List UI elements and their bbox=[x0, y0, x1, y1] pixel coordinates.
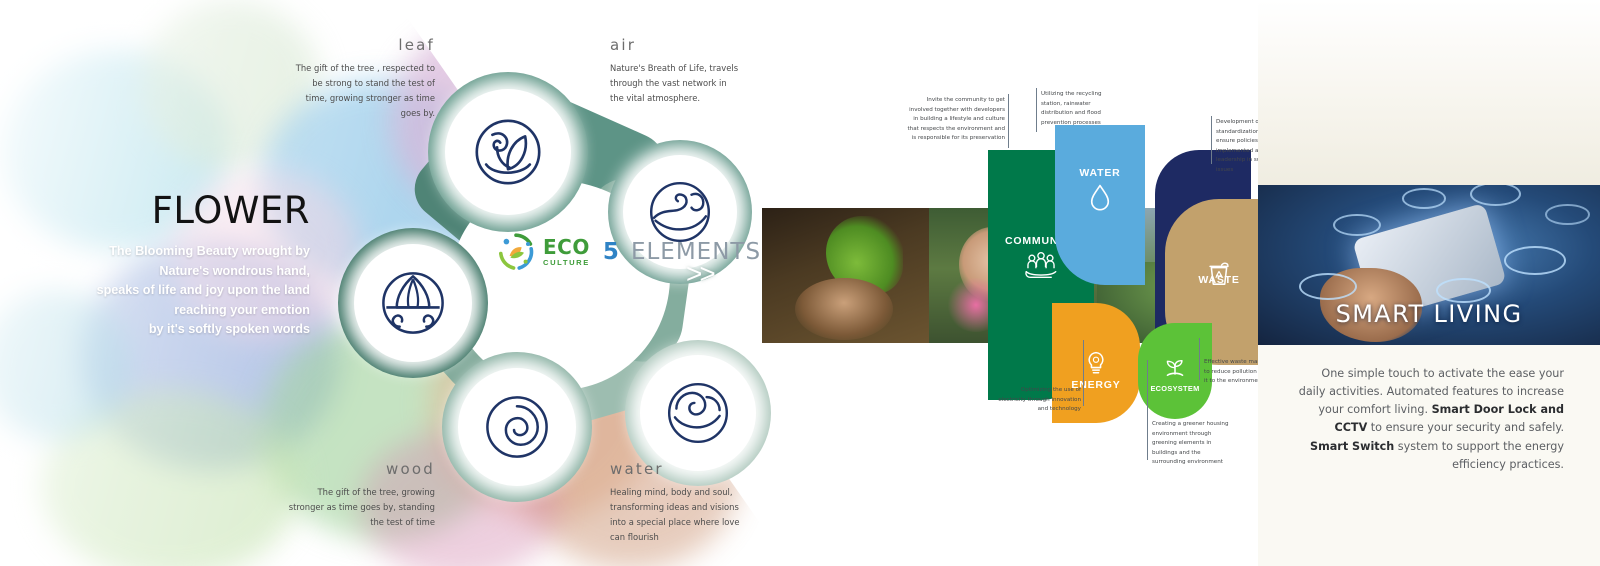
callout-ecosystem: Creating a greener housing environment t… bbox=[1152, 420, 1232, 468]
flower-tagline-line: Nature's wondrous hand, bbox=[30, 262, 310, 282]
element-label-air: air Nature's Breath of Life, travels thr… bbox=[610, 36, 740, 106]
eco-culture-logo: ECO CULTURE 5 ELEMENTS bbox=[496, 232, 761, 272]
element-desc: The gift of the tree, growing stronger a… bbox=[285, 485, 435, 530]
flower-copy-block: FLOWER The Blooming Beauty wrought by Na… bbox=[30, 192, 310, 340]
flower-tagline: The Blooming Beauty wrought by Nature's … bbox=[30, 242, 310, 340]
element-desc: The gift of the tree , respected to be s… bbox=[290, 61, 435, 121]
water-drop-icon bbox=[1089, 183, 1111, 211]
eco-word: ECO bbox=[543, 237, 590, 257]
element-label-leaf: Leaf The gift of the tree , respected to… bbox=[290, 36, 435, 121]
element-node-wood[interactable] bbox=[442, 352, 592, 502]
eco-culture-mark-icon bbox=[496, 232, 536, 272]
element-label-wood: wood The gift of the tree, growing stron… bbox=[285, 460, 435, 530]
element-name: air bbox=[610, 36, 740, 54]
flower-title: FLOWER bbox=[30, 192, 310, 229]
element-label-water: water Healing mind, body and soul, trans… bbox=[610, 460, 745, 545]
flower-tagline-line: by it's softly spoken words bbox=[30, 320, 310, 340]
flower-tagline-line: reaching your emotion bbox=[30, 301, 310, 321]
element-name: Leaf bbox=[290, 36, 435, 54]
flower-tagline-line: speaks of life and joy upon the land bbox=[30, 281, 310, 301]
leader-line-energy bbox=[1083, 340, 1084, 406]
culture-word: CULTURE bbox=[543, 259, 590, 267]
leader-line-water bbox=[1036, 88, 1037, 132]
chevrons-forward-icon: >> bbox=[686, 258, 713, 290]
wood-spiral-icon bbox=[480, 390, 554, 464]
element-node-flower[interactable] bbox=[338, 228, 488, 378]
flower-tagline-line: The Blooming Beauty wrought by bbox=[30, 242, 310, 262]
element-node-leaf[interactable] bbox=[428, 72, 588, 232]
infographic-banner: FLOWER The Blooming Beauty wrought by Na… bbox=[0, 0, 1600, 566]
callout-community: Invite the community to get involved tog… bbox=[905, 96, 1005, 144]
pillar-label: WASTE bbox=[1198, 274, 1239, 286]
sprout-icon bbox=[1164, 355, 1186, 379]
pillar-label: WATER bbox=[1079, 167, 1120, 179]
five-numeral: 5 bbox=[603, 239, 619, 265]
leader-line-ecosystem bbox=[1147, 360, 1148, 460]
pillar-ecosystem[interactable]: ECOSYSTEM bbox=[1138, 323, 1212, 419]
element-desc: Nature's Breath of Life, travels through… bbox=[610, 61, 740, 106]
leader-line-management bbox=[1211, 116, 1212, 164]
community-people-icon bbox=[1024, 251, 1058, 281]
element-name: water bbox=[610, 460, 745, 478]
photo-seedling-hands bbox=[762, 208, 929, 343]
element-name: wood bbox=[285, 460, 435, 478]
air-wave-icon bbox=[644, 176, 716, 248]
smart-living-title: SMART LIVING bbox=[1258, 300, 1600, 328]
callout-water: Utilizing the recycling station, rainwat… bbox=[1041, 90, 1121, 128]
pillar-water[interactable]: WATER bbox=[1055, 125, 1145, 285]
leader-line-community bbox=[1008, 94, 1009, 148]
flower-bud-icon bbox=[376, 266, 450, 340]
element-desc: Healing mind, body and soul, transformin… bbox=[610, 485, 745, 545]
eco-culture-wordmark: ECO CULTURE bbox=[543, 237, 590, 267]
leader-line-waste bbox=[1199, 338, 1200, 380]
lightbulb-icon bbox=[1085, 350, 1107, 376]
callout-energy: Optimizing the use of electricity throug… bbox=[995, 386, 1081, 415]
pillar-label: ECOSYSTEM bbox=[1150, 384, 1199, 393]
leaf-swirl-icon bbox=[469, 113, 547, 191]
smart-living-panel: SMART LIVING One simple touch to activat… bbox=[1258, 0, 1600, 566]
water-swirl-icon bbox=[662, 377, 734, 449]
smart-living-body: One simple touch to activate the ease yo… bbox=[1294, 365, 1564, 474]
